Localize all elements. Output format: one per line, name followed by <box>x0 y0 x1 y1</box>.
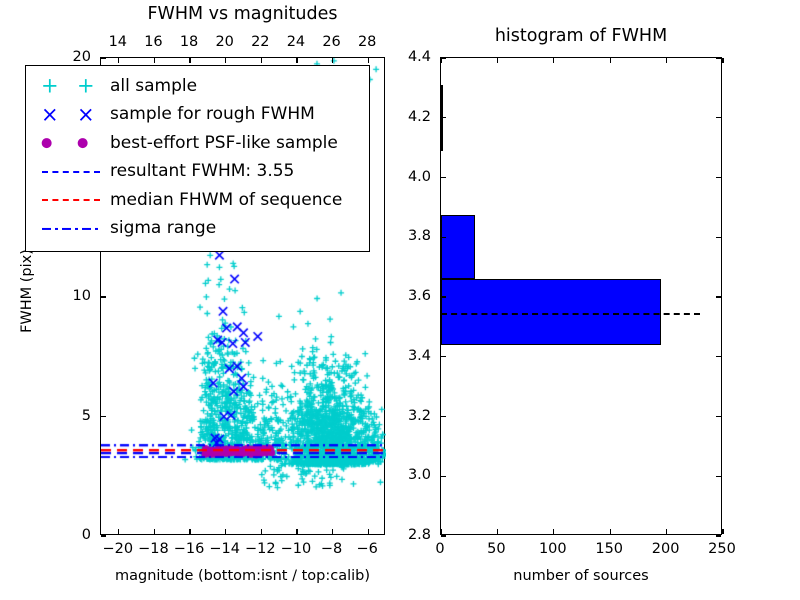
hist-x-tick-top <box>553 58 554 63</box>
x-tick-top <box>225 58 226 63</box>
hist-y-tick <box>441 356 446 357</box>
hist-x-tick-top <box>497 58 498 63</box>
x-tick-label-top: 20 <box>215 34 233 50</box>
hist-y-tick-label: 4.0 <box>408 169 431 185</box>
legend-item-5[interactable]: sigma range <box>26 215 369 244</box>
hist-x-tick-label: 100 <box>539 541 567 557</box>
hist-y-tick-right <box>716 416 721 417</box>
x-tick-label-bottom: −8 <box>321 541 342 557</box>
hist-y-tick-right <box>716 237 721 238</box>
y-tick-label: 10 <box>73 288 91 304</box>
histogram-bar <box>441 279 661 345</box>
hist-x-tick <box>553 529 554 534</box>
y-tick-label: 20 <box>73 49 91 65</box>
dot-icon: ●● <box>32 130 110 156</box>
x-tick-bottom <box>189 529 190 534</box>
hist-y-tick-right <box>716 177 721 178</box>
y-tick <box>101 57 106 58</box>
legend-item-label: sigma range <box>110 220 216 237</box>
x-tick-label-bottom: −18 <box>138 541 169 557</box>
hist-y-tick <box>441 57 446 58</box>
x-tick-label-top: 14 <box>109 34 127 50</box>
hist-y-tick <box>441 177 446 178</box>
x-tick-bottom <box>296 529 297 534</box>
hist-y-tick-label: 3.0 <box>408 467 431 483</box>
hist-y-tick-label: 3.4 <box>408 348 431 364</box>
x-tick-label-top: 18 <box>180 34 198 50</box>
x-tick-bottom <box>368 529 369 534</box>
x-tick-bottom <box>332 529 333 534</box>
y-tick <box>101 296 106 297</box>
x-tick-bottom <box>118 529 119 534</box>
hist-x-tick <box>497 529 498 534</box>
legend-item-label: best-effort PSF-like sample <box>110 135 338 152</box>
histogram-bar <box>441 215 475 279</box>
legend-item-0[interactable]: ++all sample <box>26 72 369 101</box>
hist-x-tick <box>440 529 441 534</box>
hist-y-tick-label: 4.4 <box>408 49 431 65</box>
x-tick-top <box>332 58 333 63</box>
hist-y-tick-label: 4.2 <box>408 109 431 125</box>
x-tick-bottom <box>154 529 155 534</box>
legend-item-label: sample for rough FWHM <box>110 106 315 123</box>
x-tick-bottom <box>261 529 262 534</box>
hist-y-tick-right <box>716 57 721 58</box>
x-tick-top <box>368 58 369 63</box>
hist-x-tick-label: 250 <box>708 541 736 557</box>
x-tick-label-top: 22 <box>251 34 269 50</box>
legend-item-label: resultant FWHM: 3.55 <box>110 163 294 180</box>
hist-y-tick <box>441 535 446 536</box>
hist-x-tick-top <box>610 58 611 63</box>
legend-item-4[interactable]: median FHWM of sequence <box>26 186 369 215</box>
hist-y-tick-right <box>716 476 721 477</box>
hist-x-tick-label: 50 <box>487 541 505 557</box>
dashed-line-icon <box>32 187 110 213</box>
x-tick-top <box>118 58 119 63</box>
hist-x-tick-label: 0 <box>435 541 444 557</box>
x-tick-label-top: 26 <box>322 34 340 50</box>
hist-y-tick-right <box>716 535 721 536</box>
x-tick-label-top: 16 <box>144 34 162 50</box>
legend-item-label: median FHWM of sequence <box>110 192 342 209</box>
hist-x-tick-label: 200 <box>652 541 680 557</box>
legend-item-2[interactable]: ●●best-effort PSF-like sample <box>26 129 369 158</box>
hist-y-tick <box>441 296 446 297</box>
x-tick-top <box>154 58 155 63</box>
x-tick-label-bottom: −14 <box>209 541 240 557</box>
right-plot-axes <box>440 57 722 535</box>
left-plot-xlabel: magnitude (bottom:isnt / top:calib) <box>100 568 385 584</box>
cross-icon: ×× <box>32 102 110 128</box>
hist-x-tick-top <box>666 58 667 63</box>
x-tick-label-top: 24 <box>287 34 305 50</box>
legend-item-3[interactable]: resultant FWHM: 3.55 <box>26 158 369 187</box>
dashed-line-icon <box>32 159 110 185</box>
y-tick <box>101 416 106 417</box>
x-tick-bottom <box>225 529 226 534</box>
hist-y-tick-label: 2.8 <box>408 527 431 543</box>
x-tick-label-bottom: −12 <box>245 541 276 557</box>
plus-icon: ++ <box>32 73 110 99</box>
hist-x-tick-top <box>440 58 441 63</box>
x-tick-top <box>296 58 297 63</box>
hist-y-tick-right <box>716 296 721 297</box>
right-plot-xlabel: number of sources <box>440 568 722 584</box>
x-tick-label-bottom: −20 <box>103 541 134 557</box>
hist-x-tick <box>666 529 667 534</box>
right-plot-title: histogram of FWHM <box>440 26 722 46</box>
hist-y-tick-label: 3.8 <box>408 228 431 244</box>
y-tick <box>101 535 106 536</box>
hist-x-tick <box>722 529 723 534</box>
x-tick-label-bottom: −16 <box>174 541 205 557</box>
hist-x-tick-top <box>722 58 723 63</box>
hist-x-tick <box>610 529 611 534</box>
hist-y-tick <box>441 476 446 477</box>
hist-x-tick-label: 150 <box>595 541 623 557</box>
y-tick-label: 5 <box>82 408 91 424</box>
hist-y-tick-right <box>716 356 721 357</box>
hist-y-tick <box>441 117 446 118</box>
x-tick-top <box>261 58 262 63</box>
median-fwhm-line <box>441 313 700 315</box>
hist-y-tick-label: 3.2 <box>408 408 431 424</box>
hist-y-tick-label: 3.6 <box>408 288 431 304</box>
x-tick-top <box>189 58 190 63</box>
hist-y-tick-right <box>716 117 721 118</box>
x-tick-label-top: 28 <box>358 34 376 50</box>
dashdot-line-icon <box>32 216 110 242</box>
hist-y-tick <box>441 237 446 238</box>
left-plot-title: FWHM vs magnitudes <box>100 4 385 24</box>
x-tick-label-bottom: −10 <box>281 541 312 557</box>
hist-y-tick <box>441 416 446 417</box>
legend-item-1[interactable]: ××sample for rough FWHM <box>26 101 369 130</box>
x-tick-label-bottom: −6 <box>357 541 378 557</box>
y-tick-label: 0 <box>82 527 91 543</box>
plot-legend: ++all sample××sample for rough FWHM●●bes… <box>25 65 370 252</box>
legend-item-label: all sample <box>110 78 197 95</box>
figure-canvas: FWHM vs magnitudes FWHM (pix) magnitude … <box>0 0 800 600</box>
